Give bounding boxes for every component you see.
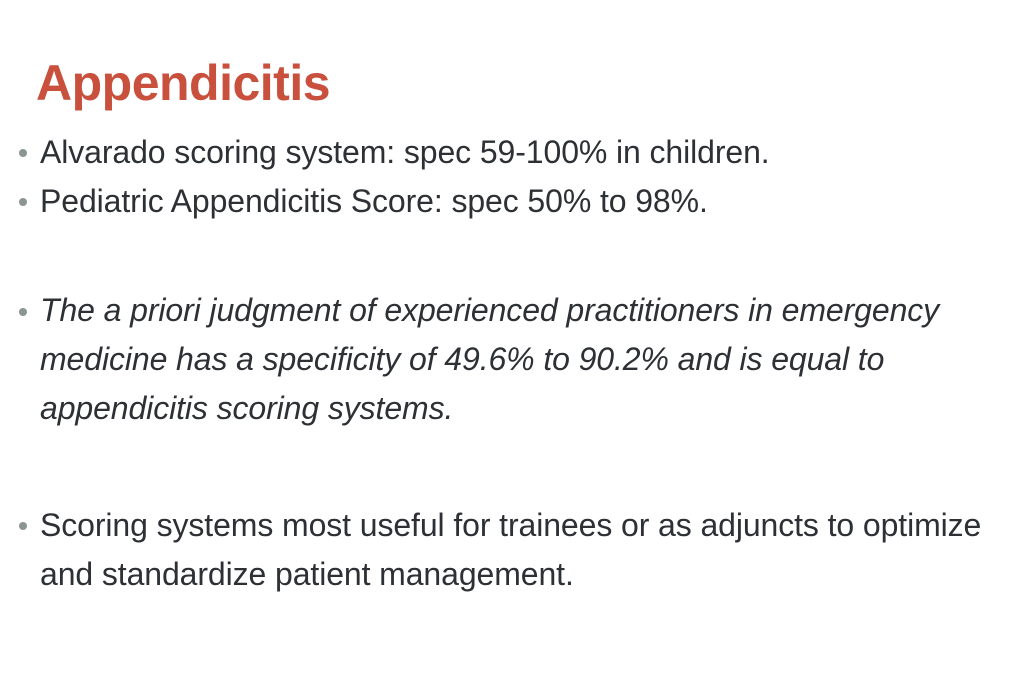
page-title: Appendicitis: [36, 54, 330, 113]
list-item: Alvarado scoring system: spec 59-100% in…: [14, 128, 1010, 177]
slide-canvas: Appendicitis Alvarado scoring system: sp…: [0, 0, 1024, 686]
bullet-list: Alvarado scoring system: spec 59-100% in…: [14, 128, 1010, 599]
list-item-label: Scoring systems most useful for trainees…: [40, 501, 1000, 599]
list-item-label: Alvarado scoring system: spec 59-100% in…: [40, 128, 1010, 177]
list-item: Pediatric Appendicitis Score: spec 50% t…: [14, 177, 1010, 226]
bullet-dot-icon: [19, 522, 27, 530]
list-item: The a priori judgment of experienced pra…: [14, 286, 1010, 433]
bullet-dot-icon: [19, 198, 27, 206]
bullet-dot-icon: [19, 308, 27, 316]
bullet-dot-icon: [19, 149, 27, 157]
list-item-label: Pediatric Appendicitis Score: spec 50% t…: [40, 177, 1010, 226]
list-item: Scoring systems most useful for trainees…: [14, 501, 1010, 599]
list-item-label: The a priori judgment of experienced pra…: [40, 286, 1000, 433]
